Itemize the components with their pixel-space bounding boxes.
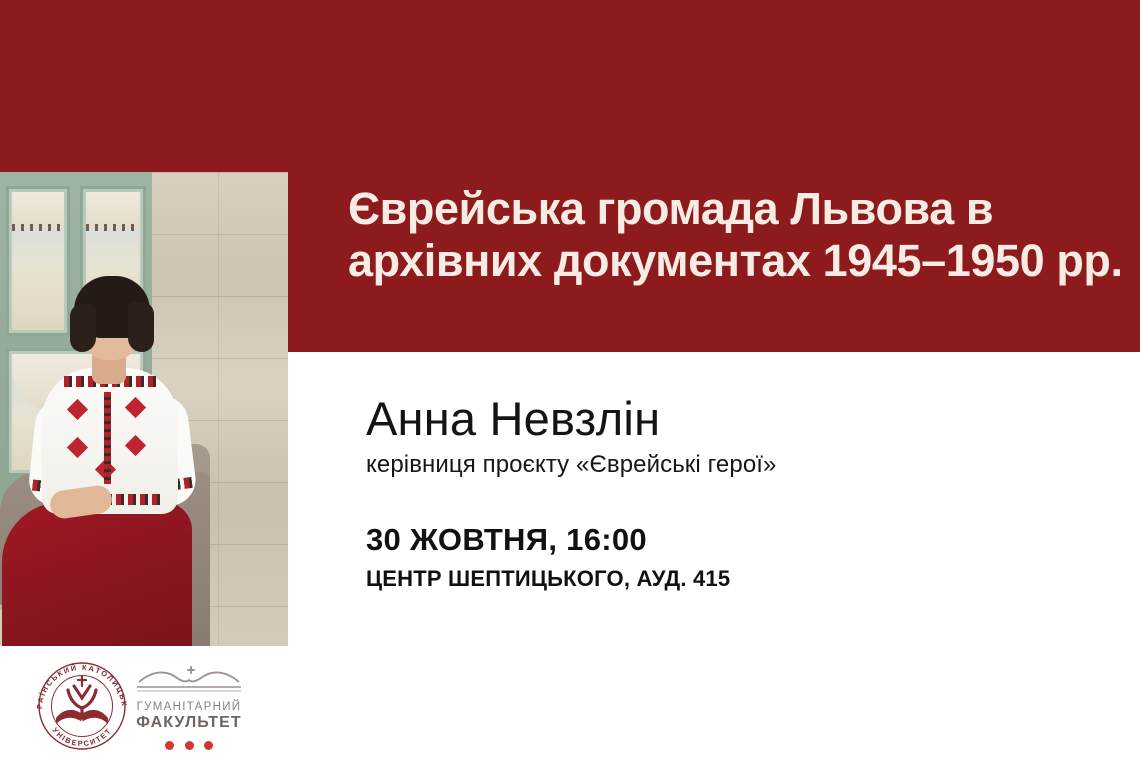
humanities-line-1: ГУМАНІТАРНИЙ bbox=[133, 701, 245, 713]
dot-3 bbox=[204, 741, 213, 750]
humanities-line-2: ФАКУЛЬТЕТ bbox=[133, 714, 245, 732]
ucu-logo: УКРАЇНСЬКИЙ КАТОЛИЦЬКИЙ УНІВЕРСИТЕТ bbox=[30, 656, 134, 756]
ucu-seal-icon: УКРАЇНСЬКИЙ КАТОЛИЦЬКИЙ УНІВЕРСИТЕТ bbox=[30, 656, 134, 756]
photo-red-skirt bbox=[2, 502, 192, 646]
event-date: 30 ЖОВТНЯ, 16:00 bbox=[366, 521, 730, 559]
page-title: Єврейська громада Львова в архівних доку… bbox=[348, 183, 1140, 287]
dot-2 bbox=[185, 741, 194, 750]
speaker-block: Анна Невзлін керівниця проєкту «Єврейськ… bbox=[366, 392, 777, 480]
title-line-2: архівних документах 1945–1950 рр. bbox=[348, 235, 1140, 287]
dot-1 bbox=[165, 741, 174, 750]
svg-text:УКРАЇНСЬКИЙ КАТОЛИЦЬКИЙ: УКРАЇНСЬКИЙ КАТОЛИЦЬКИЙ bbox=[30, 656, 129, 709]
humanities-dots bbox=[133, 737, 245, 755]
title-line-1: Єврейська громада Львова в bbox=[348, 183, 1140, 235]
photo-hair-right bbox=[128, 302, 154, 352]
speaker-portrait bbox=[0, 172, 288, 646]
photo-hair-left bbox=[70, 304, 96, 352]
logo-bar: УКРАЇНСЬКИЙ КАТОЛИЦЬКИЙ УНІВЕРСИТЕТ bbox=[0, 646, 1140, 760]
event-location: ЦЕНТР ШЕПТИЦЬКОГО, АУД. 415 bbox=[366, 565, 730, 593]
speaker-name: Анна Невзлін bbox=[366, 392, 777, 446]
event-block: 30 ЖОВТНЯ, 16:00 ЦЕНТР ШЕПТИЦЬКОГО, АУД.… bbox=[366, 521, 730, 593]
humanities-faculty-logo: ГУМАНІТАРНИЙ ФАКУЛЬТЕТ bbox=[133, 660, 245, 752]
speaker-role: керівниця проєкту «Єврейські герої» bbox=[366, 450, 777, 480]
poster-root: Єврейська громада Львова в архівних доку… bbox=[0, 0, 1140, 760]
open-book-icon bbox=[133, 660, 245, 694]
